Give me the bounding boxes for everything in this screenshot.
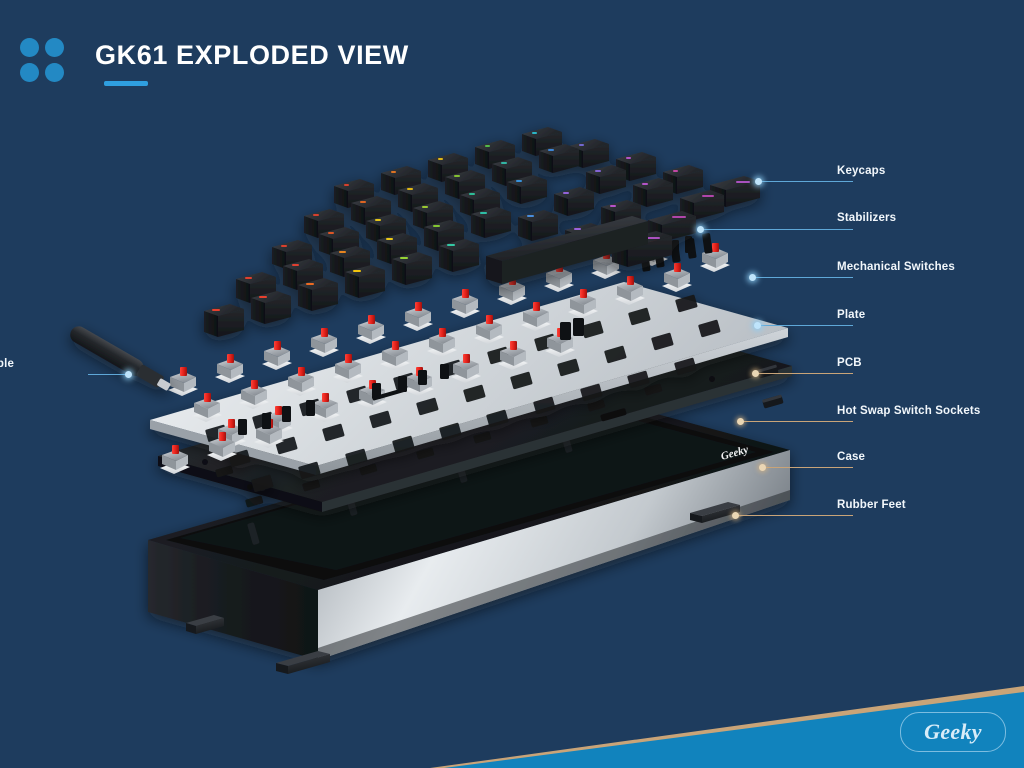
callout-label: Hot Swap Switch Sockets [837, 405, 980, 417]
geeky-brand-logo: Geeky [900, 712, 1006, 752]
layer-pcb [158, 320, 792, 512]
switch-row [192, 263, 692, 422]
callout-leader-line [762, 467, 853, 468]
four-dots-icon [20, 38, 66, 84]
callout-label: USB Cable [0, 358, 14, 370]
callout-anchor-dot [125, 371, 132, 378]
callout-leader-line [740, 421, 853, 422]
switch-row [160, 419, 284, 474]
callout-label: PCB [837, 357, 862, 369]
page-title: GK61 EXPLODED VIEW [95, 40, 409, 71]
title-accent-rule [104, 81, 148, 86]
logo-dot [20, 38, 39, 57]
callout-leader-line [88, 374, 128, 375]
logo-dot [20, 63, 39, 82]
callout-anchor-dot [755, 178, 762, 185]
layer-usb-cable [67, 323, 173, 394]
callout-label: Case [837, 451, 865, 463]
callout-label: Keycaps [837, 165, 885, 177]
callout-label: Stabilizers [837, 212, 896, 224]
callout-label: Mechanical Switches [837, 261, 955, 273]
callout-anchor-dot [737, 418, 744, 425]
callout-anchor-dot [732, 512, 739, 519]
keycap-row [304, 144, 724, 238]
logo-dot [45, 63, 64, 82]
callout-label: Rubber Feet [837, 499, 906, 511]
logo-dot [45, 38, 64, 57]
callout-leader-line [755, 373, 853, 374]
callout-anchor-dot [759, 464, 766, 471]
bottom-brand-band [0, 600, 1024, 768]
keycap-row [204, 216, 648, 337]
hot-swap-sockets [215, 337, 690, 507]
keycap-row [236, 207, 672, 303]
switch-row [168, 237, 730, 396]
switch-row [216, 328, 575, 448]
plate-cutouts [205, 294, 721, 492]
layer-keycaps [204, 127, 760, 337]
callout-anchor-dot [752, 370, 759, 377]
callout-leader-line [757, 325, 853, 326]
callout-anchor-dot [754, 322, 761, 329]
layer-mechanical-switches [160, 237, 730, 474]
case-brand-mark: Geeky [720, 444, 750, 463]
band-shape [0, 600, 1024, 768]
callout-anchor-dot [749, 274, 756, 281]
callout-anchor-dot [697, 226, 704, 233]
callout-leader-line [758, 181, 853, 182]
callout-leader-line [700, 229, 853, 230]
brand-name: Geeky [924, 719, 982, 745]
keycap-row [272, 175, 696, 269]
exploded-view-diagram: Geeky [0, 0, 1024, 768]
callout-label: Plate [837, 309, 865, 321]
layer-stabilizers [238, 233, 713, 435]
keycap-row [334, 127, 760, 208]
layer-plate [150, 282, 788, 492]
detached-hot-swap-sockets [757, 364, 784, 408]
callout-leader-line [752, 277, 853, 278]
callout-leader-line [735, 515, 853, 516]
